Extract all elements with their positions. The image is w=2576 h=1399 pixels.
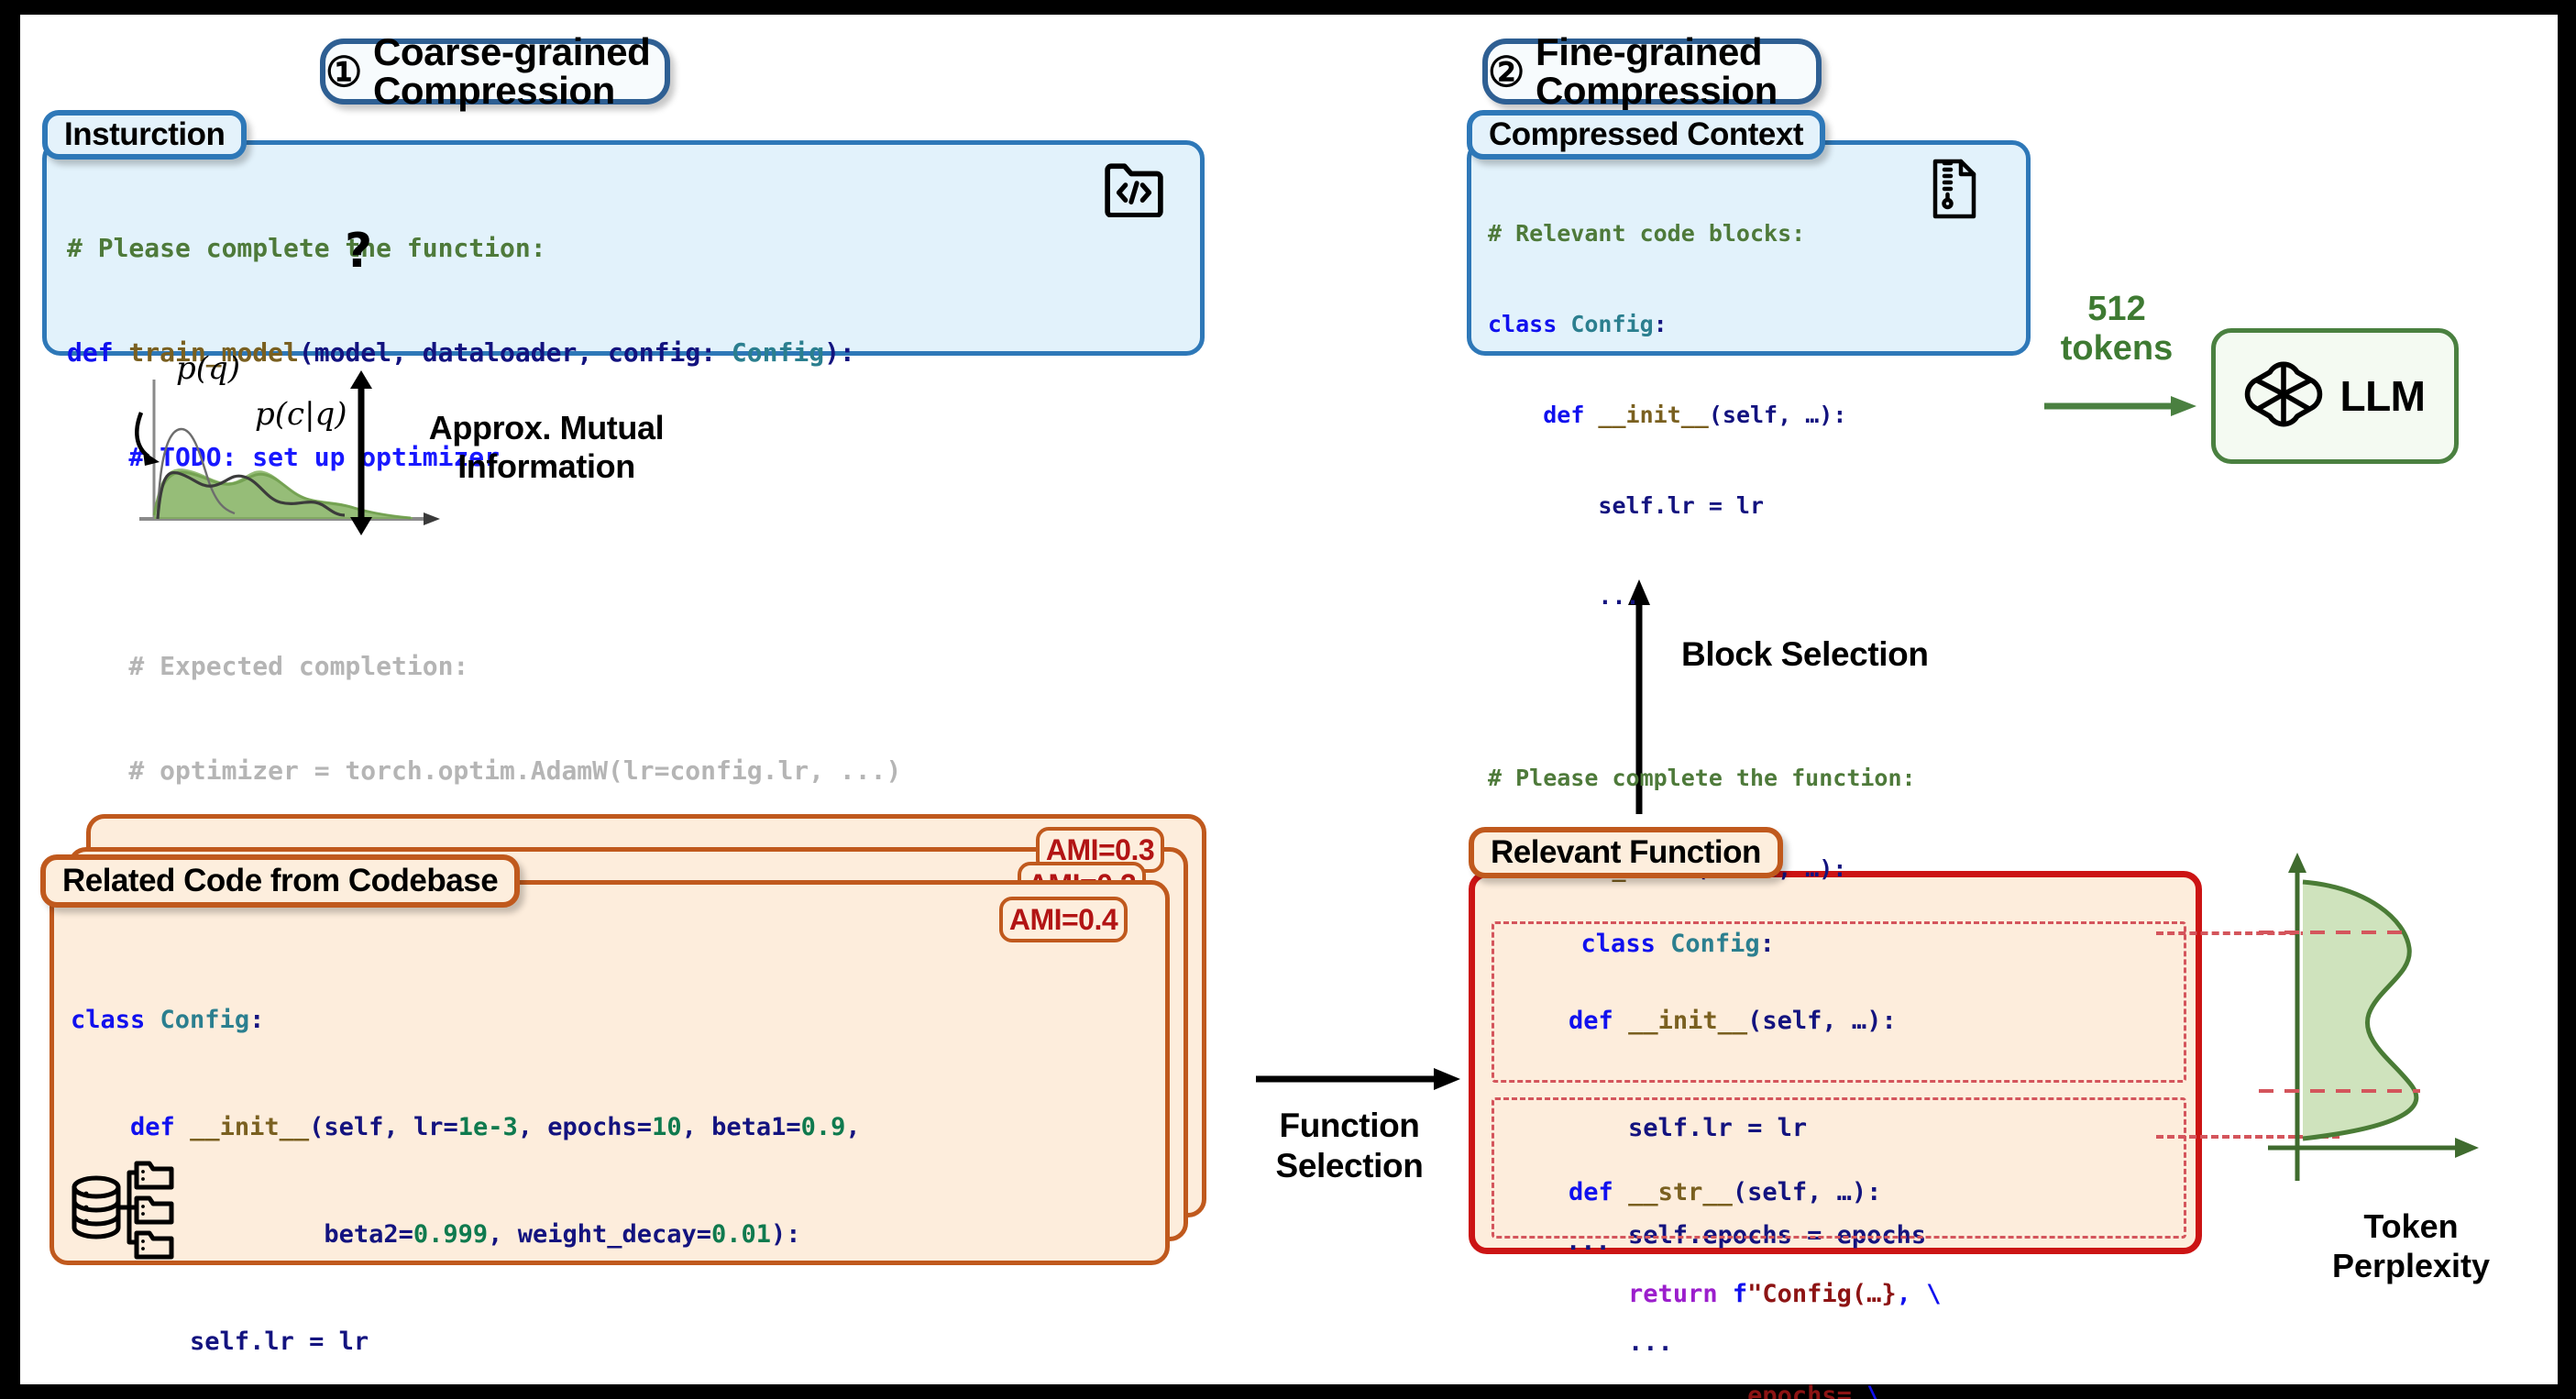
code-line: self.lr = lr <box>1488 490 1916 521</box>
code-line-blank <box>1488 672 1916 702</box>
code-token: , <box>383 1113 413 1141</box>
code-token: Config <box>1557 311 1653 337</box>
code-token: def <box>1569 1178 1613 1206</box>
code-token: epochs=… <box>1747 1382 1866 1399</box>
stage-1-label: Coarse-grained Compression <box>373 33 665 110</box>
ami-chip-3: AMI=0.4 <box>999 897 1128 942</box>
code-line: # Please complete the function: <box>1488 763 1916 793</box>
function-selection-line2: Selection <box>1239 1146 1459 1186</box>
code-line: # Please complete the function: <box>67 231 901 266</box>
code-token: epochs= <box>547 1113 652 1141</box>
code-token: , <box>1897 1280 1911 1308</box>
pq-label: p(q) <box>176 350 240 387</box>
code-line: def __init__(self, …): <box>1488 400 1916 430</box>
code-token: beta2= <box>324 1220 413 1249</box>
diagram-root: ① Coarse-grained Compression ② Fine-grai… <box>0 0 2576 1399</box>
code-token: , …): <box>1807 1178 1881 1206</box>
code-token: ( <box>1733 1178 1747 1206</box>
function-selection-arrow <box>1254 1067 1465 1091</box>
code-line: epochs=…\ <box>1509 1379 1941 1399</box>
code-token: ( <box>1747 1007 1762 1035</box>
code-line: def __str__(self, …): <box>1509 1175 1941 1209</box>
code-token: ( <box>309 1113 324 1141</box>
instruction-tag-label: Insturction <box>64 116 225 153</box>
compressed-context-tag: Compressed Context <box>1467 110 1825 160</box>
code-token: ( <box>1709 402 1723 428</box>
code-token: , <box>577 337 608 368</box>
code-token: "Config(…} <box>1747 1280 1897 1308</box>
code-token: self.lr = lr <box>71 1327 369 1356</box>
code-token: lr= <box>413 1113 458 1141</box>
code-token: __init__ <box>1584 402 1708 428</box>
code-token: # Relevant code blocks: <box>1488 220 1805 247</box>
llm-box: LLM <box>2211 328 2459 464</box>
code-token: f <box>1718 1280 1748 1308</box>
code-token: , …): <box>1778 855 1846 882</box>
code-token: ): <box>824 337 855 368</box>
code-token: # Please complete the function: <box>67 233 546 263</box>
mutual-information-label-line2: Information <box>400 447 693 486</box>
code-line: self.lr = lr <box>71 1324 861 1360</box>
code-token: def <box>67 337 114 368</box>
llm-label: LLM <box>2339 371 2425 421</box>
code-token: , <box>518 1113 548 1141</box>
code-token: 10 <box>652 1113 682 1141</box>
code-token: def <box>1543 402 1584 428</box>
code-block-highlight-str: def __str__(self, …): return f"Config(…}… <box>1492 1097 2186 1239</box>
instruction-panel: # Please complete the function: def trai… <box>42 140 1205 356</box>
code-token: __str__ <box>1613 1178 1733 1206</box>
code-line: def __init__(self, lr=1e-3, epochs=10, b… <box>71 1109 861 1145</box>
compressed-context-tag-label: Compressed Context <box>1489 116 1803 153</box>
code-token: 0.9 <box>801 1113 846 1141</box>
code-line: beta2=0.999, weight_decay=0.01): <box>71 1217 861 1252</box>
mutual-information-label: Approx. Mutual Information <box>400 409 693 487</box>
diagram-canvas: ① Coarse-grained Compression ② Fine-grai… <box>20 15 2558 1384</box>
code-token: self <box>1747 1178 1807 1206</box>
stage-2-label: Fine-grained Compression <box>1536 33 1816 110</box>
code-line: # Expected completion: <box>67 649 901 684</box>
perplexity-label-line1: Token <box>2292 1206 2530 1246</box>
code-token: Config <box>145 1006 249 1034</box>
code-token: self <box>1762 1007 1822 1035</box>
code-token: return <box>1628 1280 1718 1308</box>
code-line: ... <box>1488 581 1916 611</box>
code-token: ... <box>1488 583 1640 610</box>
stage-1-number: ① <box>325 51 362 93</box>
stage-2-header: ② Fine-grained Compression <box>1482 39 1822 105</box>
code-line-blank <box>67 545 901 579</box>
code-token: \ <box>1866 1382 1881 1399</box>
code-token: self <box>324 1113 383 1141</box>
code-token: # Expected completion: <box>67 651 468 681</box>
function-selection-line1: Function <box>1239 1106 1459 1146</box>
code-line: # Relevant code blocks: <box>1488 218 1916 248</box>
llm-input-arrow <box>2042 395 2198 417</box>
code-token: ): <box>771 1220 801 1249</box>
zip-file-icon <box>1930 158 1979 220</box>
instruction-tag: Insturction <box>42 110 247 160</box>
code-token: __init__ <box>1613 1007 1747 1035</box>
code-token: # optimizer = torch.optim.AdamW(lr=confi… <box>67 755 901 786</box>
code-token: self <box>1723 402 1778 428</box>
mutual-information-label-line1: Approx. Mutual <box>400 409 693 447</box>
code-token: , <box>845 1113 860 1141</box>
question-mark-icon: ? <box>345 224 372 279</box>
relevant-function-tag-label: Relevant Function <box>1491 834 1761 871</box>
code-token: , …): <box>1778 402 1846 428</box>
perplexity-chart <box>2259 840 2543 1225</box>
code-line: def __init__(self, …): <box>1509 1003 1926 1039</box>
code-token: def <box>130 1113 175 1141</box>
code-block-highlight-init: def __init__(self, …): self.lr = lr self… <box>1492 921 2186 1083</box>
code-token: : <box>249 1006 264 1034</box>
token-count-word: tokens <box>2057 329 2176 369</box>
stage-1-header: ① Coarse-grained Compression <box>320 39 670 105</box>
code-token: class <box>1488 311 1557 337</box>
stage-2-number: ② <box>1488 51 1525 93</box>
relevant-function-tail: ... <box>1506 1228 1611 1256</box>
token-count-label: 512 tokens <box>2057 290 2176 368</box>
codebase-tag-label: Related Code from Codebase <box>62 863 498 899</box>
code-token: self.lr = lr <box>1488 492 1764 519</box>
code-line: class Config: <box>1488 309 1916 339</box>
code-token: , <box>682 1113 712 1141</box>
code-token: \ <box>1911 1280 1942 1308</box>
code-token: 1e-3 <box>458 1113 518 1141</box>
code-token: # Please complete the function: <box>1488 765 1916 791</box>
code-token: 0.01 <box>711 1220 771 1249</box>
token-count-number: 512 <box>2057 290 2176 329</box>
codebase-tag: Related Code from Codebase <box>40 854 520 908</box>
code-token: Config <box>732 337 824 368</box>
code-line: # optimizer = torch.optim.AdamW(lr=confi… <box>67 754 901 788</box>
code-token: def <box>1569 1007 1613 1035</box>
relevant-function-tag: Relevant Function <box>1469 827 1783 878</box>
code-token: weight_decay= <box>518 1220 711 1249</box>
perplexity-label-line2: Perplexity <box>2292 1246 2530 1285</box>
code-token: , <box>488 1220 518 1249</box>
code-folder-icon <box>1104 160 1164 217</box>
mutual-information-arrow <box>343 370 380 535</box>
pcq-label: p(c|q) <box>255 396 347 433</box>
code-token: : <box>700 337 732 368</box>
code-token: class <box>71 1006 145 1034</box>
code-line: class Config: <box>71 1002 861 1038</box>
code-token: beta1= <box>711 1113 801 1141</box>
code-token: 0.999 <box>413 1220 488 1249</box>
codebase-code: class Config: def __init__(self, lr=1e-3… <box>71 931 861 1399</box>
compressed-context-panel: # Relevant code blocks: class Config: de… <box>1467 140 2031 356</box>
code-line: return f"Config(…}, \ <box>1509 1277 1941 1311</box>
code-token: __init__ <box>175 1113 309 1141</box>
function-selection-label: Function Selection <box>1239 1106 1459 1185</box>
openai-logo-icon <box>2244 355 2323 438</box>
code-token: config <box>608 337 700 368</box>
code-token: , …): <box>1822 1007 1896 1035</box>
database-folders-icon <box>68 1156 178 1266</box>
perplexity-axis-label: Token Perplexity <box>2292 1206 2530 1285</box>
code-token: : <box>1654 311 1668 337</box>
